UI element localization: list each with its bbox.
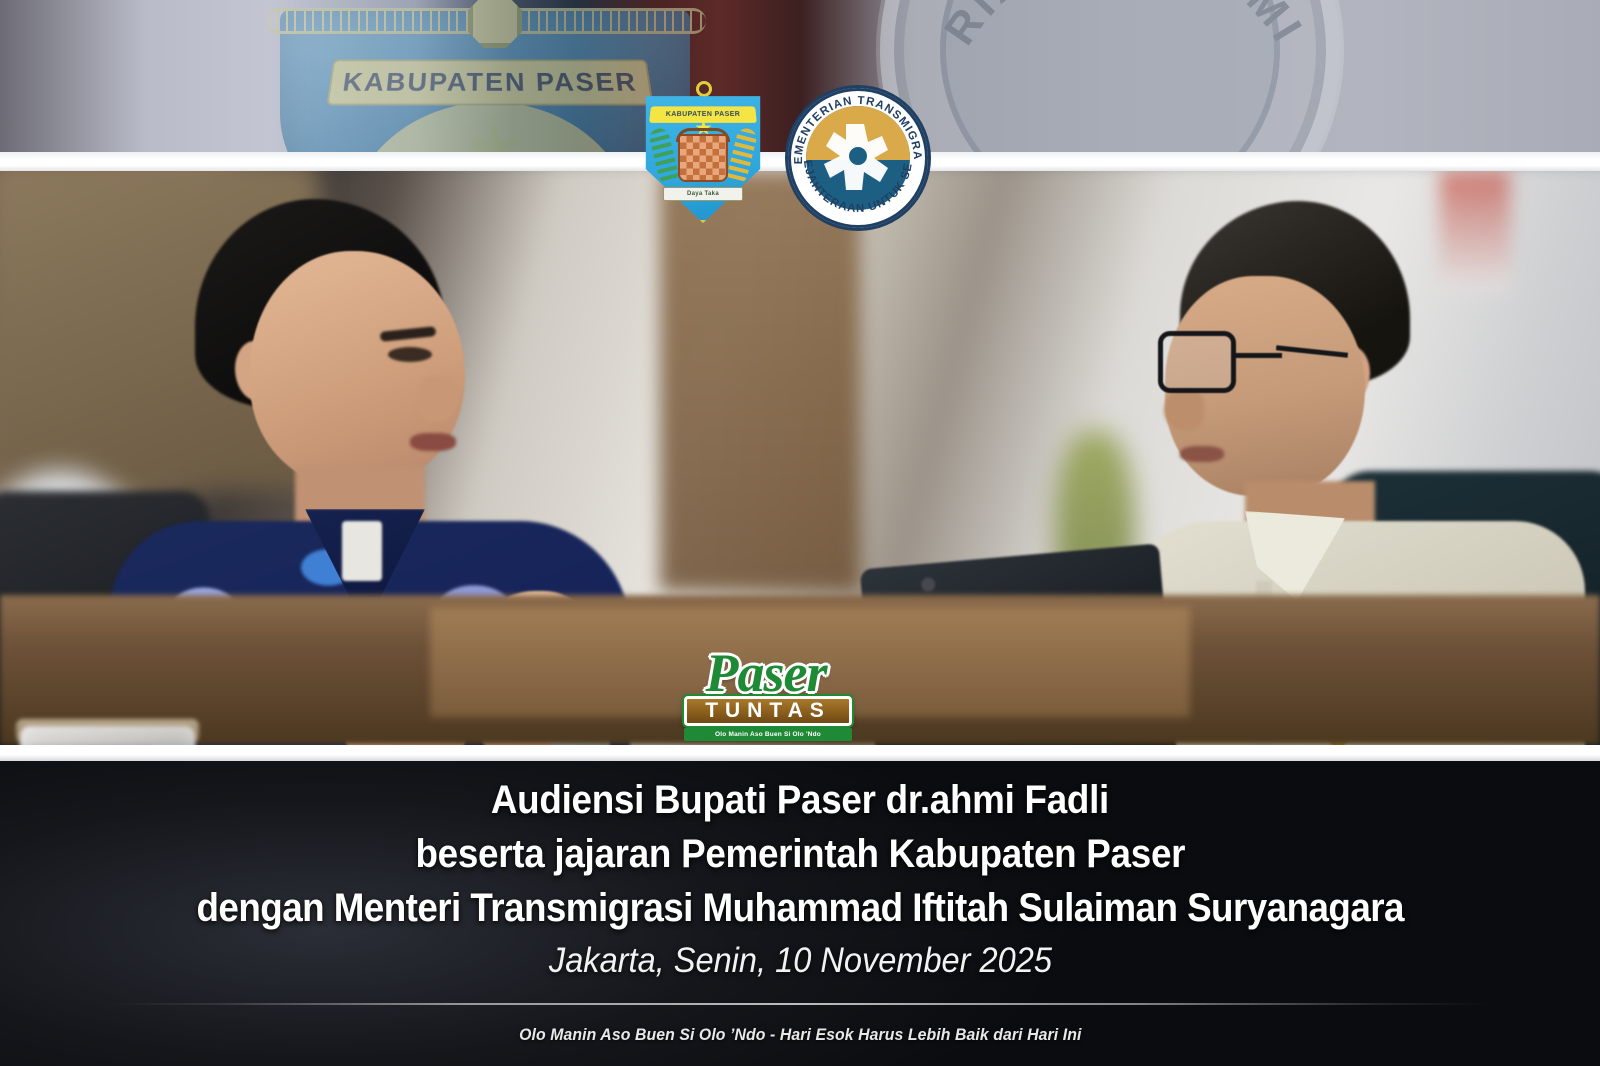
caption-line-2: beserta jajaran Pemerintah Kabupaten Pas… <box>415 832 1185 877</box>
watermark-right-arc-text: RIAN TRANSMI <box>894 0 1354 160</box>
caption-line-3: dengan Menteri Transmigrasi Muhammad Ift… <box>196 886 1403 931</box>
photo-glass-jar <box>20 726 195 745</box>
caption-panel: Audiensi Bupati Paser dr.ahmi Fadli bese… <box>0 761 1600 1066</box>
logo-subtagline-text: Olo Manin Aso Buen Si Olo 'Ndo <box>715 731 821 738</box>
logo-subtagline-bar: Olo Manin Aso Buen Si Olo 'Ndo <box>684 728 852 741</box>
logo-paser-text: Paser <box>706 642 827 704</box>
news-card: KABUPATEN PASER RIAN TRANSMI <box>0 0 1600 1066</box>
photo-door <box>660 171 860 591</box>
watermark-left-label: KABUPATEN PASER <box>341 67 639 97</box>
crest-logo-row: KABUPATEN PASER Daya Taka <box>638 88 928 228</box>
logo-tuntas-text: TUNTAS <box>705 699 831 723</box>
svg-text:KEMENTERIAN TRANSMIGRASI: KEMENTERIAN TRANSMIGRASI <box>788 88 923 164</box>
svg-text:RIAN TRANSMI: RIAN TRANSMI <box>935 0 1313 54</box>
watermark-kementerian-transmigrasi-seal: RIAN TRANSMI <box>880 0 1340 160</box>
kementerian-transmigrasi-seal-icon: KEMENTERIAN TRANSMIGRASI KESEJAHTERAAN U… <box>788 88 928 228</box>
caption-divider-line <box>110 1003 1490 1005</box>
caption-date: Jakarta, Senin, 10 November 2025 <box>548 941 1051 981</box>
crest-motto-label: Daya Taka <box>687 191 719 197</box>
photo-eyeglasses <box>1158 331 1236 393</box>
crest-banner-label: KABUPATEN PASER <box>666 111 741 118</box>
caption-tagline: Olo Manin Aso Buen Si Olo ’Ndo - Hari Es… <box>519 1025 1081 1045</box>
caption-line-1: Audiensi Bupati Paser dr.ahmi Fadli <box>491 778 1109 823</box>
seal-arc-text: KEMENTERIAN TRANSMIGRASI KESEJAHTERAAN U… <box>788 88 928 228</box>
paser-tuntas-logo[interactable]: Paser TUNTAS Olo Manin Aso Buen Si Olo '… <box>668 640 864 744</box>
kabupaten-paser-crest-icon: KABUPATEN PASER Daya Taka <box>638 88 768 223</box>
photo-caption-divider <box>0 745 1600 761</box>
logo-tuntas-bar: TUNTAS <box>684 696 852 726</box>
